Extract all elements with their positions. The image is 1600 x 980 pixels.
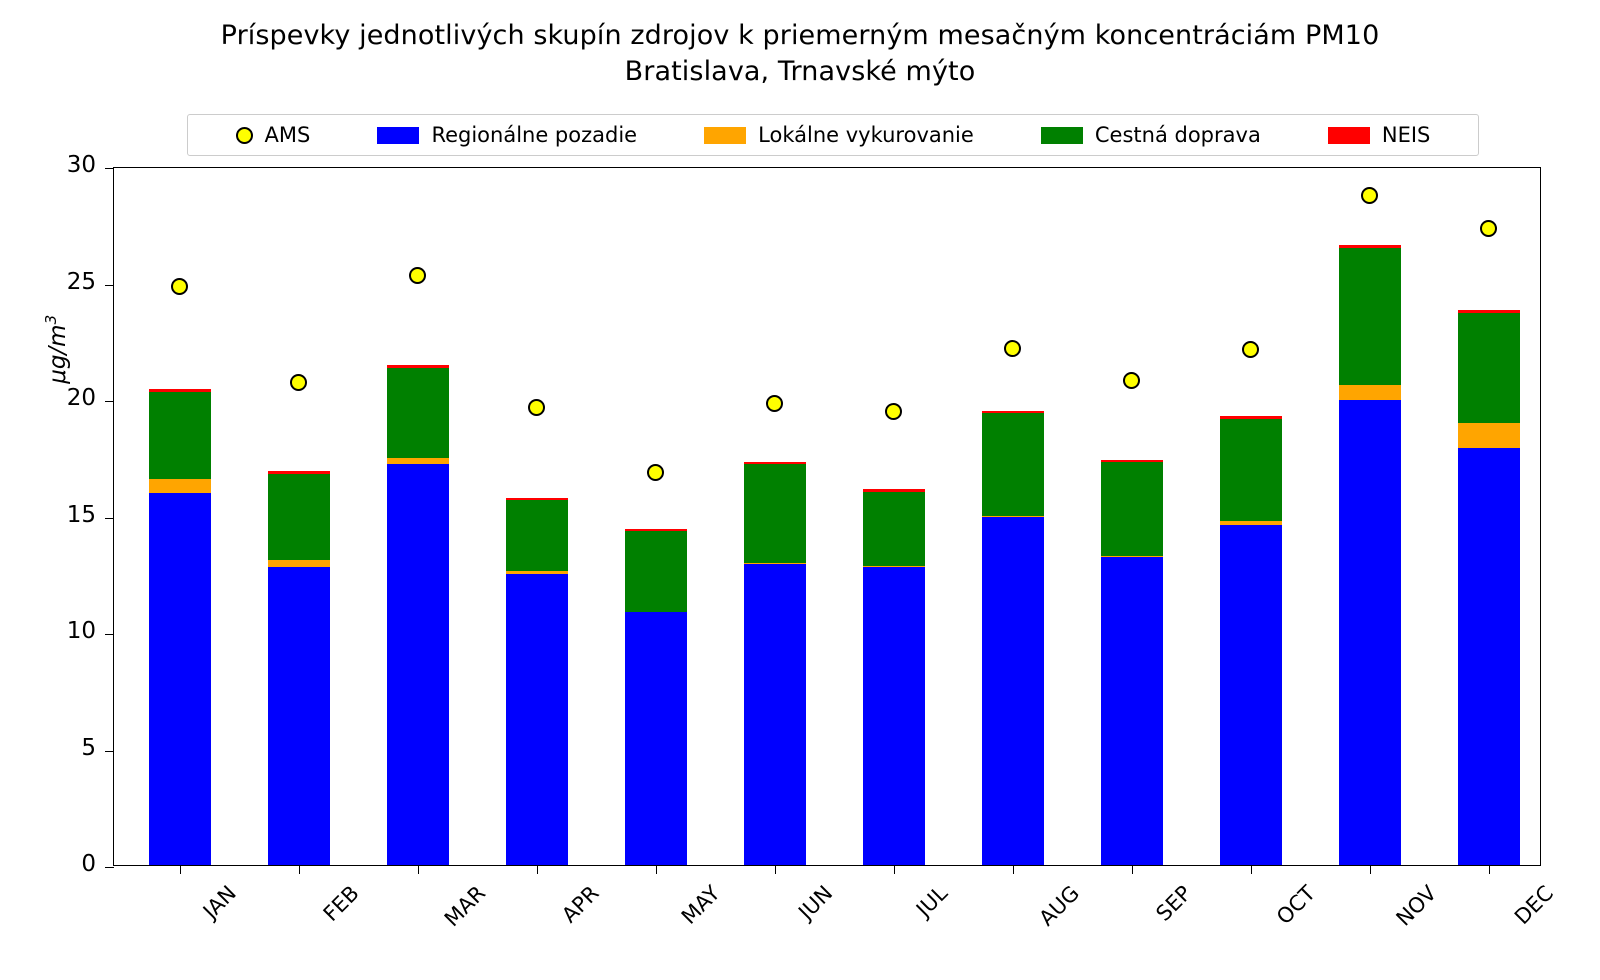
x-axis-tick <box>775 865 776 874</box>
y-axis-title-exponent: 3 <box>42 315 60 325</box>
x-axis-tick-label-apr: APR <box>557 881 603 927</box>
bar-apr[interactable] <box>506 498 568 865</box>
bar-segment-lokálne-vykurovanie[interactable] <box>506 571 568 573</box>
bar-segment-regionálne-pozadie[interactable] <box>863 567 925 865</box>
bar-aug[interactable] <box>982 411 1044 865</box>
x-axis-tick-label-nov: NOV <box>1391 881 1441 931</box>
legend-label-lokalne-vykurovanie: Lokálne vykurovanie <box>758 123 974 147</box>
x-axis-tick <box>1132 865 1133 874</box>
legend-label-neis: NEIS <box>1382 123 1431 147</box>
x-axis-tick-label-dec: DEC <box>1509 881 1557 929</box>
legend-label-ams: AMS <box>265 123 311 147</box>
x-axis-tick <box>1489 865 1490 874</box>
x-axis-tick-label-feb: FEB <box>318 881 363 926</box>
legend-entry-regionalne-pozadie[interactable]: Regionálne pozadie <box>377 123 637 147</box>
bar-nov[interactable] <box>1339 245 1401 865</box>
road-traffic-swatch-icon <box>1041 127 1083 144</box>
bar-segment-cestná-doprava[interactable] <box>1101 462 1163 556</box>
x-axis-tick-label-jan: JAN <box>198 881 240 923</box>
x-axis-tick <box>537 865 538 874</box>
chart-legend: AMS Regionálne pozadie Lokálne vykurovan… <box>187 114 1479 156</box>
bar-segment-cestná-doprava[interactable] <box>1458 313 1520 424</box>
legend-label-cestna-doprava: Cestná doprava <box>1095 123 1261 147</box>
bar-segment-lokálne-vykurovanie[interactable] <box>387 458 449 464</box>
bar-group <box>114 168 1540 865</box>
y-axis-tick-label: 0 <box>32 851 96 877</box>
bar-segment-neis[interactable] <box>982 411 1044 413</box>
bar-segment-cestná-doprava[interactable] <box>149 392 211 479</box>
bar-segment-cestná-doprava[interactable] <box>387 368 449 459</box>
y-axis-tick <box>105 751 114 752</box>
x-axis-tick-label-mar: MAR <box>439 881 489 931</box>
y-axis-tick <box>105 401 114 402</box>
y-axis-tick <box>105 285 114 286</box>
bar-segment-lokálne-vykurovanie[interactable] <box>1220 521 1282 524</box>
x-axis-tick-label-jul: JUL <box>911 881 951 921</box>
bar-segment-neis[interactable] <box>506 498 568 500</box>
ams-circle-marker-icon <box>236 127 253 144</box>
y-axis-tick-label: 5 <box>32 735 96 761</box>
bar-segment-cestná-doprava[interactable] <box>1339 248 1401 385</box>
y-axis-tick <box>105 518 114 519</box>
x-axis-tick-label-aug: AUG <box>1034 881 1084 931</box>
bar-segment-neis[interactable] <box>625 529 687 531</box>
chart-title: Príspevky jednotlivých skupín zdrojov k … <box>0 18 1600 89</box>
y-axis-tick-label: 15 <box>32 502 96 528</box>
x-axis-tick <box>1370 865 1371 874</box>
legend-entry-ams[interactable]: AMS <box>236 123 311 147</box>
bar-segment-cestná-doprava[interactable] <box>268 474 330 560</box>
chart-title-line-1: Príspevky jednotlivých skupín zdrojov k … <box>0 18 1600 54</box>
bar-segment-cestná-doprava[interactable] <box>506 500 568 571</box>
x-axis-tick <box>180 865 181 874</box>
bar-segment-cestná-doprava[interactable] <box>863 492 925 567</box>
bar-segment-neis[interactable] <box>1101 460 1163 462</box>
bar-segment-cestná-doprava[interactable] <box>1220 419 1282 522</box>
bar-segment-cestná-doprava[interactable] <box>625 531 687 611</box>
ams-marker-jul[interactable] <box>885 403 902 420</box>
bar-segment-neis[interactable] <box>744 462 806 464</box>
bar-segment-neis[interactable] <box>1458 310 1520 313</box>
bar-segment-lokálne-vykurovanie[interactable] <box>744 563 806 564</box>
bar-segment-regionálne-pozadie[interactable] <box>1220 525 1282 865</box>
bar-segment-regionálne-pozadie[interactable] <box>1101 557 1163 865</box>
bar-segment-cestná-doprava[interactable] <box>744 464 806 563</box>
bar-segment-regionálne-pozadie[interactable] <box>1458 448 1520 865</box>
bar-segment-neis[interactable] <box>387 365 449 367</box>
x-axis-tick <box>1013 865 1014 874</box>
bar-segment-neis[interactable] <box>268 471 330 474</box>
y-axis-title-text: μg/m <box>45 325 71 384</box>
bar-segment-neis[interactable] <box>1339 245 1401 248</box>
y-axis-tick <box>105 867 114 868</box>
bar-segment-regionálne-pozadie[interactable] <box>1339 400 1401 865</box>
bar-dec[interactable] <box>1458 310 1520 865</box>
ams-marker-sep[interactable] <box>1123 372 1140 389</box>
bar-segment-regionálne-pozadie[interactable] <box>744 564 806 865</box>
plot-area: 051015202530 JANFEBMARAPRMAYJUNJULAUGSEP… <box>113 167 1541 866</box>
bar-segment-regionálne-pozadie[interactable] <box>149 493 211 865</box>
bar-segment-lokálne-vykurovanie[interactable] <box>268 560 330 567</box>
ams-marker-dec[interactable] <box>1480 220 1497 237</box>
ams-marker-jun[interactable] <box>766 395 783 412</box>
ams-marker-aug[interactable] <box>1004 340 1021 357</box>
y-axis-title: μg/m3 <box>22 0 91 699</box>
chart-title-line-2: Bratislava, Trnavské mýto <box>0 54 1600 90</box>
bar-jul[interactable] <box>863 489 925 865</box>
bar-segment-regionálne-pozadie[interactable] <box>268 567 330 865</box>
chart-figure: Príspevky jednotlivých skupín zdrojov k … <box>0 0 1600 980</box>
bar-segment-neis[interactable] <box>863 489 925 491</box>
bar-segment-cestná-doprava[interactable] <box>982 413 1044 516</box>
bar-segment-neis[interactable] <box>149 389 211 392</box>
y-axis-tick-label: 25 <box>32 269 96 295</box>
bar-sep[interactable] <box>1101 460 1163 865</box>
local-heating-swatch-icon <box>704 127 746 144</box>
neis-swatch-icon <box>1328 127 1370 144</box>
x-axis-tick-label-may: MAY <box>676 881 724 929</box>
bar-segment-lokálne-vykurovanie[interactable] <box>1101 556 1163 557</box>
x-axis-tick <box>656 865 657 874</box>
y-axis-tick-label: 20 <box>32 385 96 411</box>
bar-segment-regionálne-pozadie[interactable] <box>506 574 568 865</box>
bar-segment-regionálne-pozadie[interactable] <box>982 517 1044 865</box>
x-axis-tick <box>299 865 300 874</box>
ams-marker-feb[interactable] <box>290 374 307 391</box>
bar-segment-regionálne-pozadie[interactable] <box>387 464 449 865</box>
x-axis-tick-label-jun: JUN <box>793 881 836 924</box>
x-axis-tick <box>894 865 895 874</box>
x-axis-tick-label-sep: SEP <box>1151 881 1196 926</box>
legend-entry-neis[interactable]: NEIS <box>1328 123 1431 147</box>
y-axis-tick-label: 10 <box>32 618 96 644</box>
bar-segment-lokálne-vykurovanie[interactable] <box>149 479 211 493</box>
bar-jan[interactable] <box>149 389 211 865</box>
bar-segment-regionálne-pozadie[interactable] <box>625 612 687 865</box>
regional-background-swatch-icon <box>377 127 419 144</box>
x-axis-tick <box>1251 865 1252 874</box>
bar-feb[interactable] <box>268 471 330 865</box>
ams-marker-mar[interactable] <box>409 267 426 284</box>
bar-segment-lokálne-vykurovanie[interactable] <box>1458 423 1520 447</box>
ams-marker-may[interactable] <box>647 464 664 481</box>
bar-segment-lokálne-vykurovanie[interactable] <box>1339 385 1401 400</box>
bar-may[interactable] <box>625 529 687 865</box>
x-axis-tick <box>418 865 419 874</box>
bar-segment-neis[interactable] <box>1220 416 1282 419</box>
bar-oct[interactable] <box>1220 416 1282 865</box>
legend-entry-lokalne-vykurovanie[interactable]: Lokálne vykurovanie <box>704 123 974 147</box>
legend-label-regionalne-pozadie: Regionálne pozadie <box>431 123 637 147</box>
x-axis-tick-label-oct: OCT <box>1271 881 1319 929</box>
y-axis-tick-label: 30 <box>32 152 96 178</box>
y-axis-tick <box>105 168 114 169</box>
y-axis-tick <box>105 634 114 635</box>
legend-entry-cestna-doprava[interactable]: Cestná doprava <box>1041 123 1261 147</box>
bar-mar[interactable] <box>387 365 449 865</box>
bar-jun[interactable] <box>744 462 806 865</box>
